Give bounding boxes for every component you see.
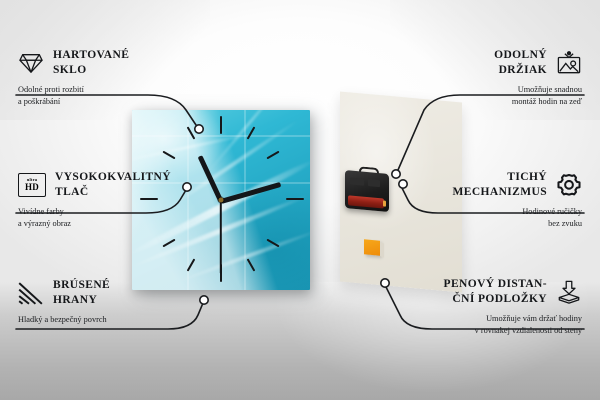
callout-durable-hanger: ODOLNÝ DRŽIAK Umožňuje snadnou montáž ho… <box>392 48 582 108</box>
callout-header: BRÚSENÉ HRANY <box>18 278 208 308</box>
movement-detail-right <box>368 179 380 187</box>
callout-tempered-glass: HARTOVANÉ SKLO Odolné proti rozbití a po… <box>18 48 208 108</box>
picture-hanger-icon <box>556 51 582 75</box>
callout-header: HARTOVANÉ SKLO <box>18 48 208 78</box>
callout-subtitle: Hladký a bezpečný povrch <box>18 314 208 326</box>
callout-header: TICHÝ MECHANIZMUS <box>392 170 582 200</box>
callout-title: VYSOKOKVALITNÝ TLAČ <box>55 170 171 200</box>
movement-body <box>345 170 389 212</box>
callout-high-quality-print: ultra HD VYSOKOKVALITNÝ TLAČ Vivídne far… <box>18 170 208 230</box>
callout-title: TICHÝ MECHANIZMUS <box>453 170 548 200</box>
callout-subtitle: Umožňuje snadnou montáž hodin na zeď <box>392 84 582 108</box>
callout-header: ODOLNÝ DRŽIAK <box>392 48 582 78</box>
beveled-edge-icon <box>18 281 44 305</box>
foam-spacer-pad <box>364 239 380 255</box>
arrow-down-stack-icon <box>556 280 582 304</box>
callout-subtitle: Vivídne farby a výrazný obraz <box>18 206 208 230</box>
clock-tick-3 <box>286 198 304 200</box>
diamond-icon <box>18 51 44 75</box>
movement-detail-left <box>350 177 364 185</box>
callout-title: HARTOVANÉ SKLO <box>53 48 129 78</box>
callout-header: PENOVÝ DISTAN- ČNÍ PODLOŽKY <box>392 277 582 307</box>
callout-title: PENOVÝ DISTAN- ČNÍ PODLOŽKY <box>444 277 547 307</box>
ultra-hd-icon: ultra HD <box>18 173 46 197</box>
callout-title: ODOLNÝ DRŽIAK <box>494 48 547 78</box>
callout-silent-mechanism: TICHÝ MECHANIZMUS Hodinové ručičky bez z… <box>392 170 582 230</box>
callout-ground-edges: BRÚSENÉ HRANY Hladký a bezpečný povrch <box>18 278 208 326</box>
callout-title: BRÚSENÉ HRANY <box>53 278 110 308</box>
product-feature-infographic: HARTOVANÉ SKLO Odolné proti rozbití a po… <box>0 0 600 400</box>
clock-tick-12 <box>220 116 222 134</box>
clock-movement <box>345 170 389 212</box>
callout-header: ultra HD VYSOKOKVALITNÝ TLAČ <box>18 170 208 200</box>
clock-hands-hub <box>219 198 224 203</box>
clock-second-hand <box>220 200 222 274</box>
callout-subtitle: Umožňuje vám držať hodiny v rovnakej vzd… <box>392 313 582 337</box>
battery <box>348 195 384 208</box>
gear-icon <box>556 173 582 197</box>
callout-subtitle: Hodinové ručičky bez zvuku <box>392 206 582 230</box>
callout-subtitle: Odolné proti rozbití a poškrábání <box>18 84 208 108</box>
callout-foam-spacers: PENOVÝ DISTAN- ČNÍ PODLOŽKY Umožňuje vám… <box>392 277 582 337</box>
